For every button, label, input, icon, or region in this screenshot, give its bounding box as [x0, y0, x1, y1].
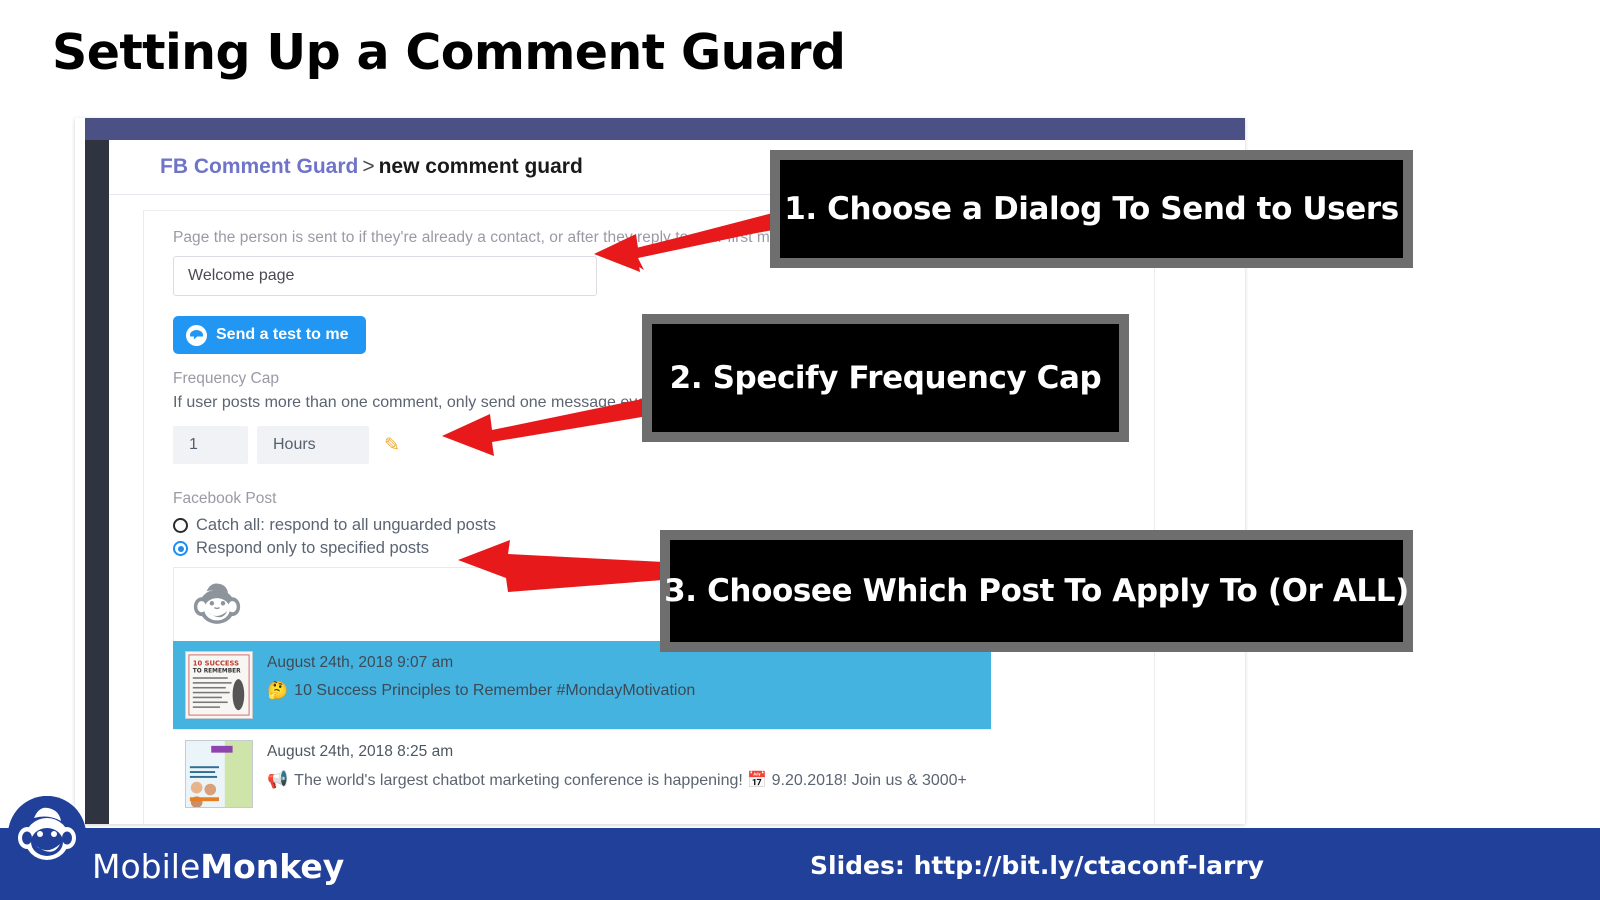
brand-light: Mobile: [92, 847, 200, 886]
post-thumbnail: 10 SUCCESS TO REMEMBER: [185, 651, 253, 719]
frequency-unit-value: Hours: [273, 436, 316, 454]
send-test-label: Send a test to me: [216, 326, 348, 344]
arrow-2-icon: [424, 396, 648, 458]
frequency-amount-input[interactable]: 1: [173, 426, 248, 464]
callout-2-text: 2. Specify Frequency Cap: [670, 360, 1102, 396]
monkey-avatar-icon: [189, 581, 245, 629]
breadcrumb-current: new comment guard: [379, 155, 583, 178]
post-date: August 24th, 2018 9:07 am: [267, 654, 695, 672]
callout-1-text: 1. Choose a Dialog To Send to Users: [784, 191, 1399, 227]
settings-card: Page the person is sent to if they're al…: [143, 210, 1155, 824]
callout-box-3: 3. Choosee Which Post To Apply To (Or AL…: [660, 530, 1413, 652]
callout-3-text: 3. Choosee Which Post To Apply To (Or AL…: [664, 573, 1409, 609]
post-text-row: 🤔 10 Success Principles to Remember #Mon…: [267, 681, 695, 701]
frequency-unit-select[interactable]: Hours: [257, 426, 369, 464]
brand-bold: Monkey: [200, 847, 344, 886]
breadcrumb-separator: >: [358, 155, 378, 178]
radio-icon-unselected: [173, 518, 188, 533]
slide-footer: MobileMonkey Slides: http://bit.ly/ctaco…: [0, 828, 1600, 900]
breadcrumb: FB Comment Guard>new comment guard: [160, 155, 583, 179]
post-text-row: 📢 The world's largest chatbot marketing …: [267, 770, 967, 790]
callout-box-2: 2. Specify Frequency Cap: [642, 314, 1129, 442]
monkey-logo-circle: [8, 796, 86, 874]
pencil-icon[interactable]: ✎: [384, 436, 400, 455]
page-title: Setting Up a Comment Guard: [52, 24, 845, 81]
post-list-item[interactable]: August 24th, 2018 8:25 am 📢 The world's …: [173, 729, 991, 818]
dialog-select-input[interactable]: Welcome page: [173, 256, 597, 296]
thinking-face-emoji: 🤔: [267, 681, 288, 701]
post-list-item[interactable]: 10 SUCCESS TO REMEMBER Aug: [173, 641, 991, 729]
callout-box-1: 1. Choose a Dialog To Send to Users: [770, 150, 1413, 268]
facebook-post-label: Facebook Post: [173, 490, 1136, 508]
radio-label-catch-all: Catch all: respond to all unguarded post…: [196, 516, 496, 535]
frequency-amount-value: 1: [189, 436, 198, 454]
megaphone-emoji: 📢: [267, 770, 288, 790]
messenger-icon: [186, 325, 207, 346]
app-left-sidebar[interactable]: [85, 140, 109, 824]
post-text: 10 Success Principles to Remember #Monda…: [294, 682, 695, 700]
app-top-bar: [85, 118, 1245, 140]
send-test-button[interactable]: Send a test to me: [173, 316, 366, 354]
post-date: August 24th, 2018 8:25 am: [267, 743, 967, 761]
radio-icon-selected: [173, 541, 188, 556]
arrow-3-icon: [446, 538, 664, 600]
slides-link[interactable]: Slides: http://bit.ly/ctaconf-larry: [810, 851, 1264, 880]
brand-logo-text: MobileMonkey: [92, 847, 344, 886]
breadcrumb-parent[interactable]: FB Comment Guard: [160, 155, 358, 178]
svg-text:10 SUCCESS: 10 SUCCESS: [193, 660, 239, 668]
dialog-select-value: Welcome page: [188, 267, 294, 285]
svg-text:TO REMEMBER: TO REMEMBER: [193, 668, 241, 674]
post-thumbnail: [185, 740, 253, 808]
post-text: The world's largest chatbot marketing co…: [294, 770, 967, 790]
radio-label-specified: Respond only to specified posts: [196, 539, 429, 558]
